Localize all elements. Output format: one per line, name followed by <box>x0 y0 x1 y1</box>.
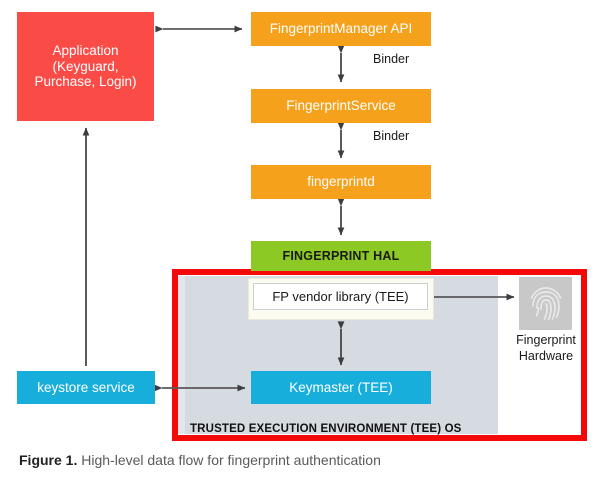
fingerprintmanager-api-label: FingerprintManager API <box>270 21 413 37</box>
fingerprintd-box[interactable]: fingerprintd <box>251 165 431 199</box>
fingerprint-hardware-line-2: Hardware <box>519 349 573 363</box>
application-box-label: Application (Keyguard, Purchase, Login) <box>34 43 136 91</box>
fingerprint-hal-label: FINGERPRINT HAL <box>283 249 400 264</box>
fingerprint-hardware-line-1: Fingerprint <box>516 333 576 347</box>
fingerprint-hardware-label: Fingerprint Hardware <box>505 333 587 364</box>
fingerprintmanager-api-box[interactable]: FingerprintManager API <box>251 12 431 46</box>
figure-canvas: TRUSTED EXECUTION ENVIRONMENT (TEE) OS <box>0 0 600 477</box>
fingerprintservice-label: FingerprintService <box>286 98 396 114</box>
fingerprint-hal-box[interactable]: FINGERPRINT HAL <box>251 241 431 271</box>
tee-os-label: TRUSTED EXECUTION ENVIRONMENT (TEE) OS <box>190 423 462 435</box>
fp-vendor-library-box[interactable]: FP vendor library (TEE) <box>253 283 428 310</box>
fp-vendor-library-label: FP vendor library (TEE) <box>272 289 408 304</box>
fingerprintd-label: fingerprintd <box>307 174 375 190</box>
application-box[interactable]: Application (Keyguard, Purchase, Login) <box>17 12 154 121</box>
fingerprint-hardware-icon-tile <box>519 277 572 330</box>
application-line-3: Purchase, Login) <box>34 74 136 89</box>
keystore-service-label: keystore service <box>37 380 135 396</box>
keystore-service-box[interactable]: keystore service <box>17 371 155 404</box>
binder-label-2: Binder <box>373 129 409 143</box>
figure-number: Figure 1. <box>19 452 77 468</box>
figure-caption-text: High-level data flow for fingerprint aut… <box>81 452 381 468</box>
application-line-2: (Keyguard, <box>52 59 118 74</box>
binder-label-1: Binder <box>373 52 409 66</box>
fingerprintservice-box[interactable]: FingerprintService <box>251 89 431 123</box>
keymaster-box[interactable]: Keymaster (TEE) <box>251 371 431 404</box>
fingerprint-icon <box>527 284 565 324</box>
figure-caption: Figure 1. High-level data flow for finge… <box>19 452 381 468</box>
application-line-1: Application <box>52 43 118 58</box>
keymaster-label: Keymaster (TEE) <box>289 380 393 396</box>
